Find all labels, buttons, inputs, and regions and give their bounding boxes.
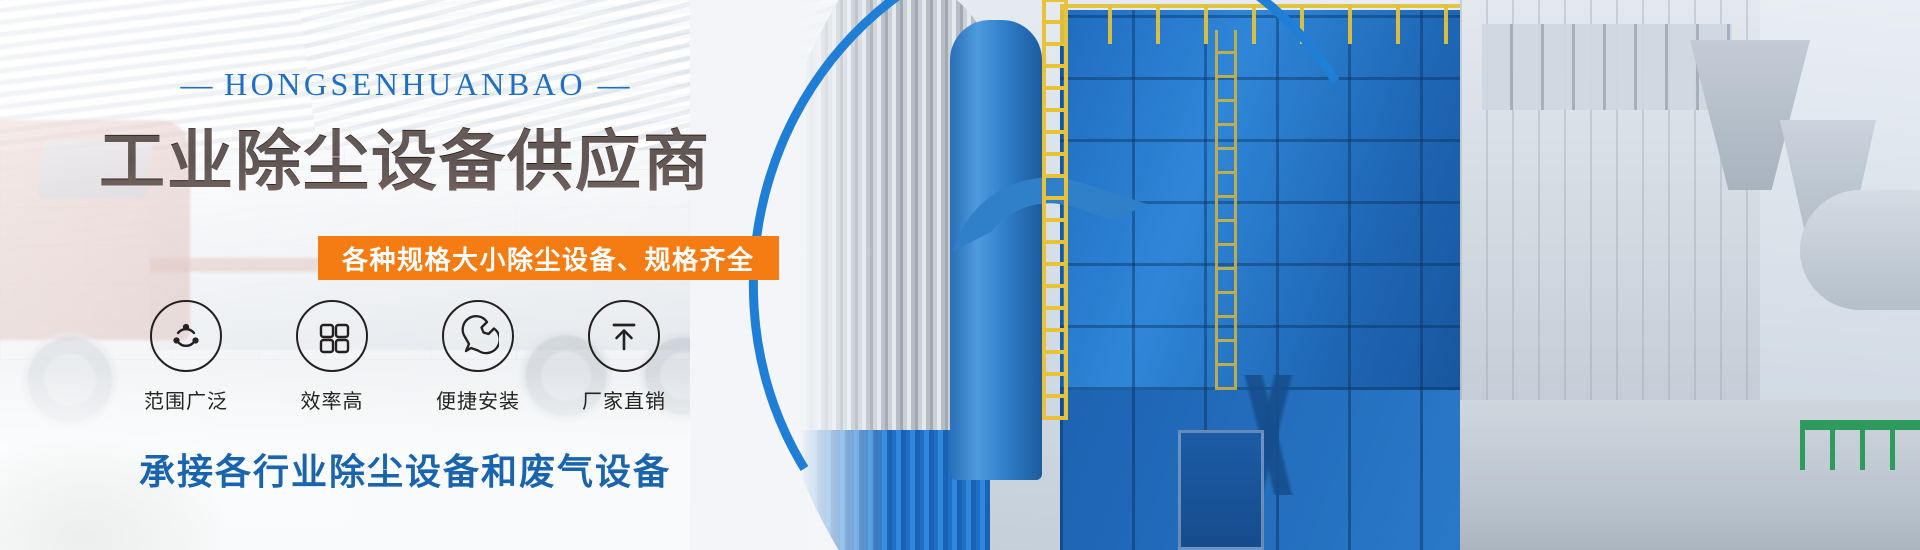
banner-subtitle: 承接各行业除尘设备和废气设备 <box>0 443 810 495</box>
grid-squares-icon <box>312 316 352 356</box>
feature-list: 范围广泛 效率高 <box>0 300 810 414</box>
highlight-bar-label: 各种规格大小除尘设备、规格齐全 <box>342 240 755 277</box>
feature-icon-circle <box>588 300 660 372</box>
feature-label: 效率高 <box>301 385 364 414</box>
wrench-icon <box>457 315 499 357</box>
feature-label: 便捷安装 <box>436 385 520 414</box>
page-title: 工业除尘设备供应商 <box>0 108 810 204</box>
banner-content: — HONGSENHUANBAO — 工业除尘设备供应商 各种规格大小除尘设备、… <box>0 0 900 550</box>
feature-item-installation[interactable]: 便捷安装 <box>423 300 533 414</box>
green-railing <box>1800 420 1920 470</box>
feature-icon-circle <box>296 300 368 372</box>
feature-item-efficiency[interactable]: 效率高 <box>277 300 387 414</box>
highlight-bar: 各种规格大小除尘设备、规格齐全 <box>318 236 779 280</box>
eyebrow-dash-right: — <box>597 66 629 102</box>
eyebrow-text: — HONGSENHUANBAO — <box>0 66 810 103</box>
right-pipe <box>1800 190 1920 310</box>
feature-label: 厂家直销 <box>582 385 666 414</box>
share-nodes-icon <box>166 316 206 356</box>
feature-item-factory-direct[interactable]: 厂家直销 <box>569 300 679 414</box>
support-legs <box>1070 375 1480 495</box>
arrow-up-icon <box>604 316 644 356</box>
yellow-top-railing <box>1060 4 1490 44</box>
yellow-ladder-secondary <box>1215 30 1237 390</box>
feature-label: 范围广泛 <box>144 385 228 414</box>
blue-access-door <box>1178 430 1264 550</box>
hero-banner: — HONGSENHUANBAO — 工业除尘设备供应商 各种规格大小除尘设备、… <box>0 0 1920 550</box>
feature-icon-circle <box>442 300 514 372</box>
dust-collector-photo <box>760 0 1920 550</box>
yellow-ladder <box>1042 0 1068 420</box>
eyebrow-dash-left: — <box>181 66 213 102</box>
feature-icon-circle <box>150 300 222 372</box>
feature-item-range[interactable]: 范围广泛 <box>131 300 241 414</box>
factory-windows <box>1482 24 1732 110</box>
eyebrow-label: HONGSENHUANBAO <box>224 66 586 102</box>
